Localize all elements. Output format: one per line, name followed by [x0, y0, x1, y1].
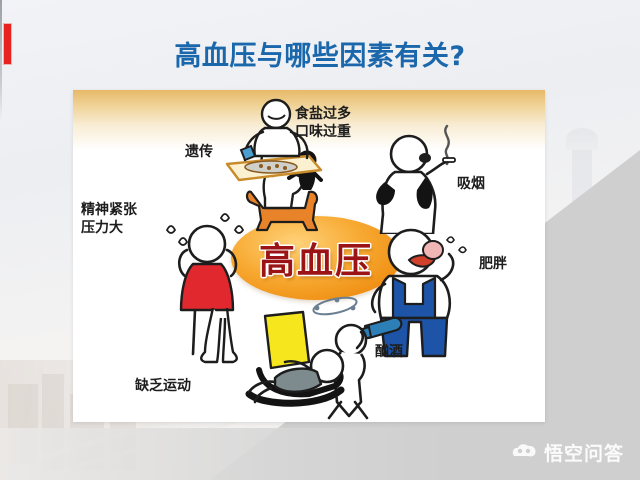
standing-legs-figure — [195, 308, 251, 368]
factor-stress-label: 精神紧张 压力大 — [81, 202, 137, 237]
cloud-icon — [511, 443, 537, 463]
page-title: 高血压与哪些因素有关? — [0, 34, 640, 73]
slide-canvas: 高血压与哪些因素有关? 高血压 遗传 食盐过多 口味过重 — [0, 0, 640, 480]
factor-salt-figure — [221, 98, 331, 190]
factor-smoking-figure — [363, 118, 483, 234]
factor-heredity-label: 遗传 — [185, 144, 213, 162]
factor-inactivity-label: 缺乏运动 — [135, 378, 191, 396]
watermark-text: 悟空问答 — [544, 439, 624, 466]
watermark: 悟空问答 — [511, 439, 624, 466]
center-badge-label: 高血压 — [259, 232, 373, 284]
illustration-card: 高血压 遗传 食盐过多 口味过重 — [73, 90, 545, 422]
